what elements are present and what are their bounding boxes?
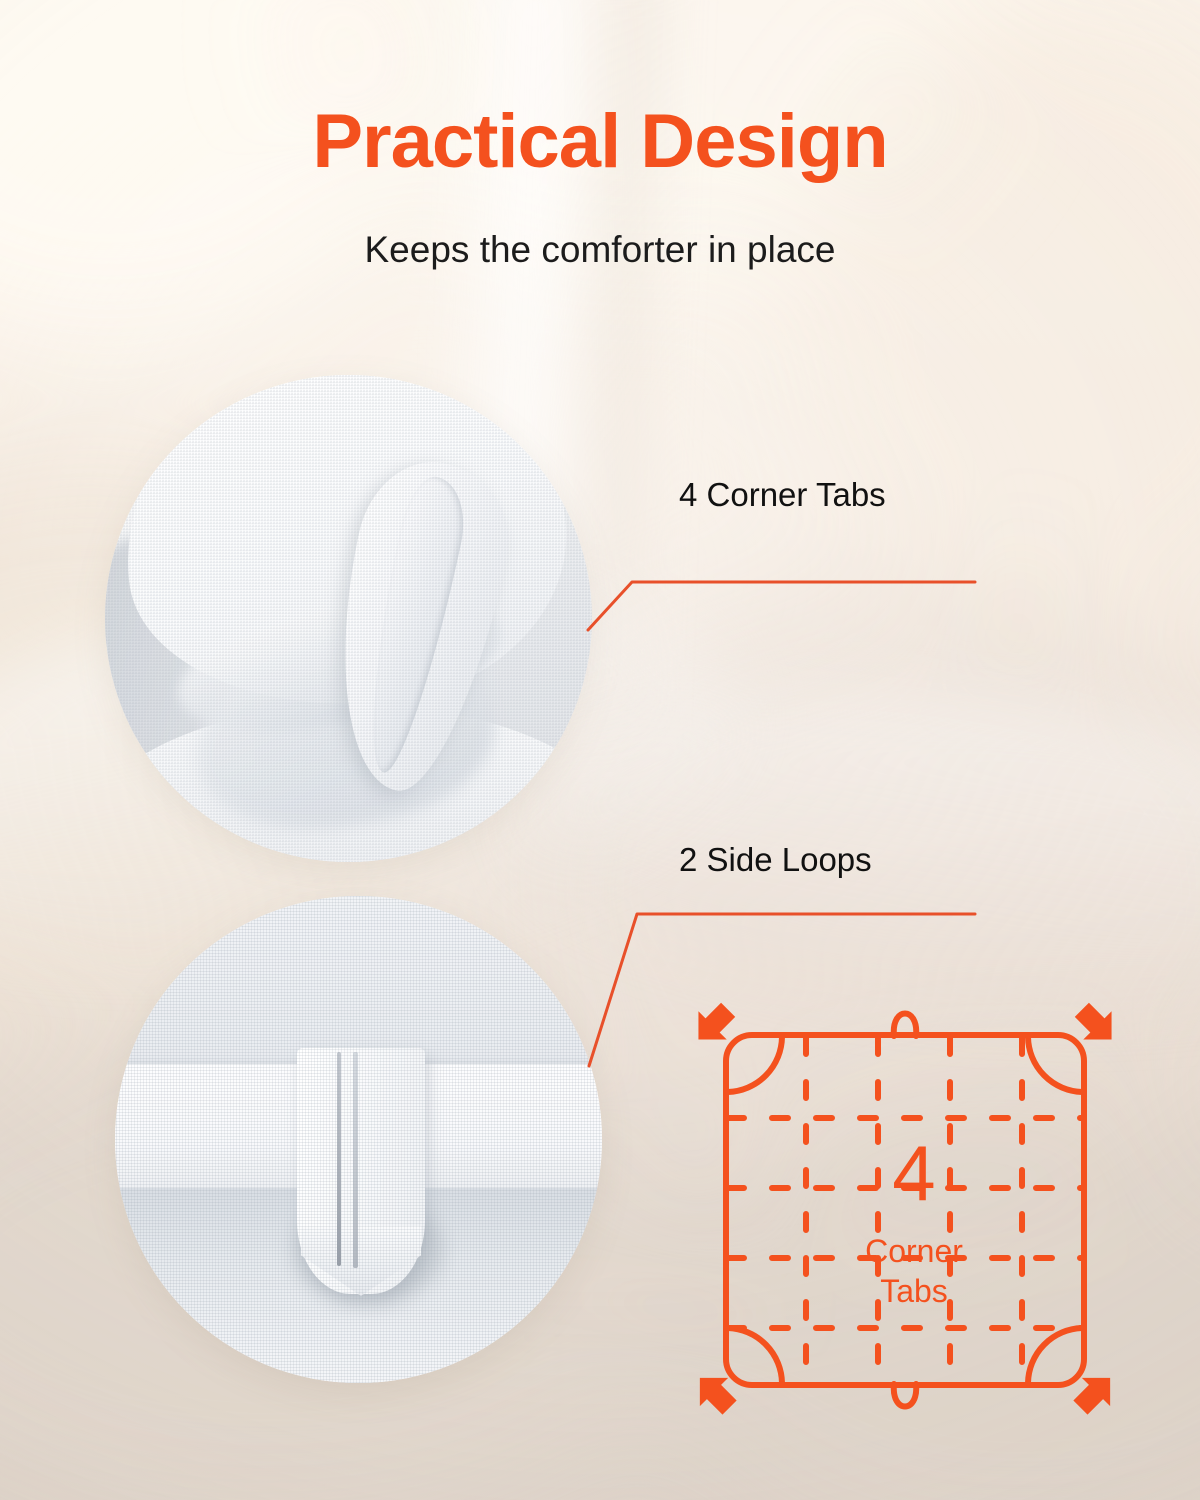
page-title: Practical Design: [0, 104, 1200, 180]
callout-label-corner-tabs: 4 Corner Tabs: [679, 476, 886, 514]
diagram-caption-line-2: Tabs: [688, 1272, 1140, 1311]
comforter-schematic-diagram: 4 Corner Tabs: [688, 1000, 1140, 1452]
callout-label-side-loops: 2 Side Loops: [679, 841, 872, 879]
diagram-caption-line-1: Corner: [688, 1232, 1140, 1271]
diagram-count: 4: [688, 1134, 1140, 1212]
page-subtitle: Keeps the comforter in place: [0, 228, 1200, 272]
infographic-canvas: Practical Design Keeps the comforter in …: [0, 0, 1200, 1500]
photo-corner-tab: [105, 375, 592, 862]
photo-side-loop: [115, 896, 602, 1383]
leader-line-corner-tabs: [580, 520, 1000, 650]
